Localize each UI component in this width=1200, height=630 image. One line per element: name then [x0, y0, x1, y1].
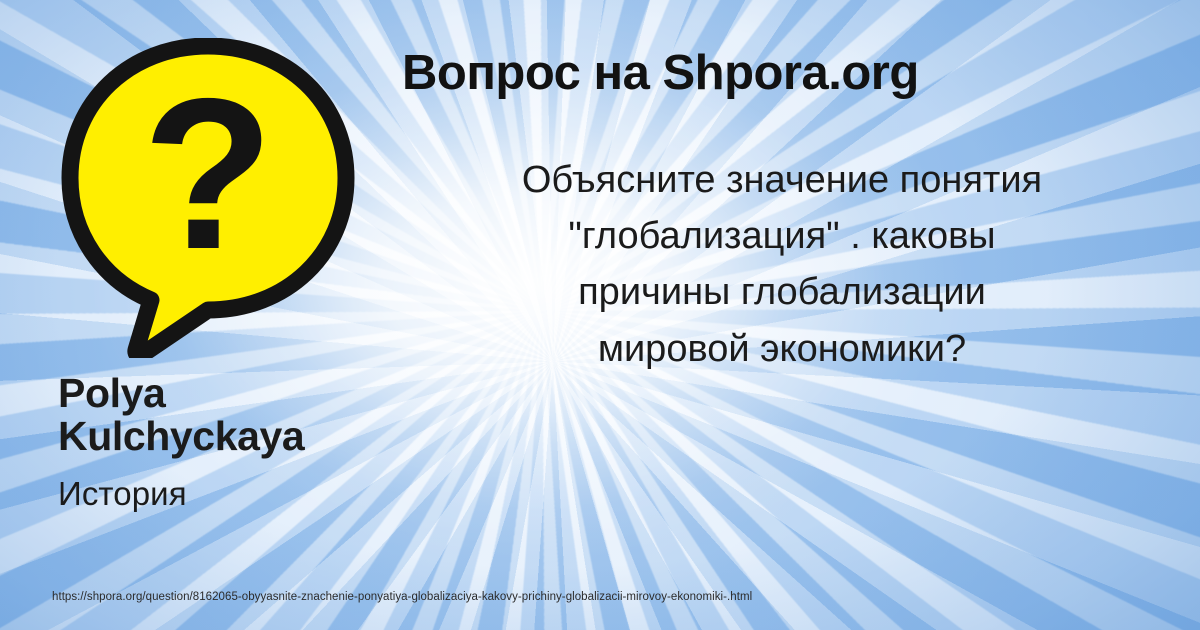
author-subject: История [58, 475, 388, 513]
question-line-3: причины глобализации [402, 264, 1162, 320]
page-title: Вопрос на Shpora.org [402, 47, 1182, 101]
question-card: ? Вопрос на Shpora.org Объясните значени… [0, 0, 1200, 630]
question-line-1: Объясните значение понятия [402, 152, 1162, 208]
question-line-4: мировой экономики? [402, 321, 1162, 377]
author-name-first: Polya [58, 372, 388, 415]
source-url[interactable]: https://shpora.org/question/8162065-obyy… [52, 591, 752, 603]
question-line-2: "глобализация" . каковы [402, 208, 1162, 264]
question-speech-bubble-icon: ? [58, 38, 358, 358]
author-name: Polya Kulchyckaya [58, 372, 388, 457]
author-name-last: Kulchyckaya [58, 415, 388, 458]
question-text: Объясните значение понятия "глобализация… [402, 152, 1162, 377]
svg-text:?: ? [142, 53, 273, 294]
author-block: Polya Kulchyckaya История [58, 372, 388, 513]
